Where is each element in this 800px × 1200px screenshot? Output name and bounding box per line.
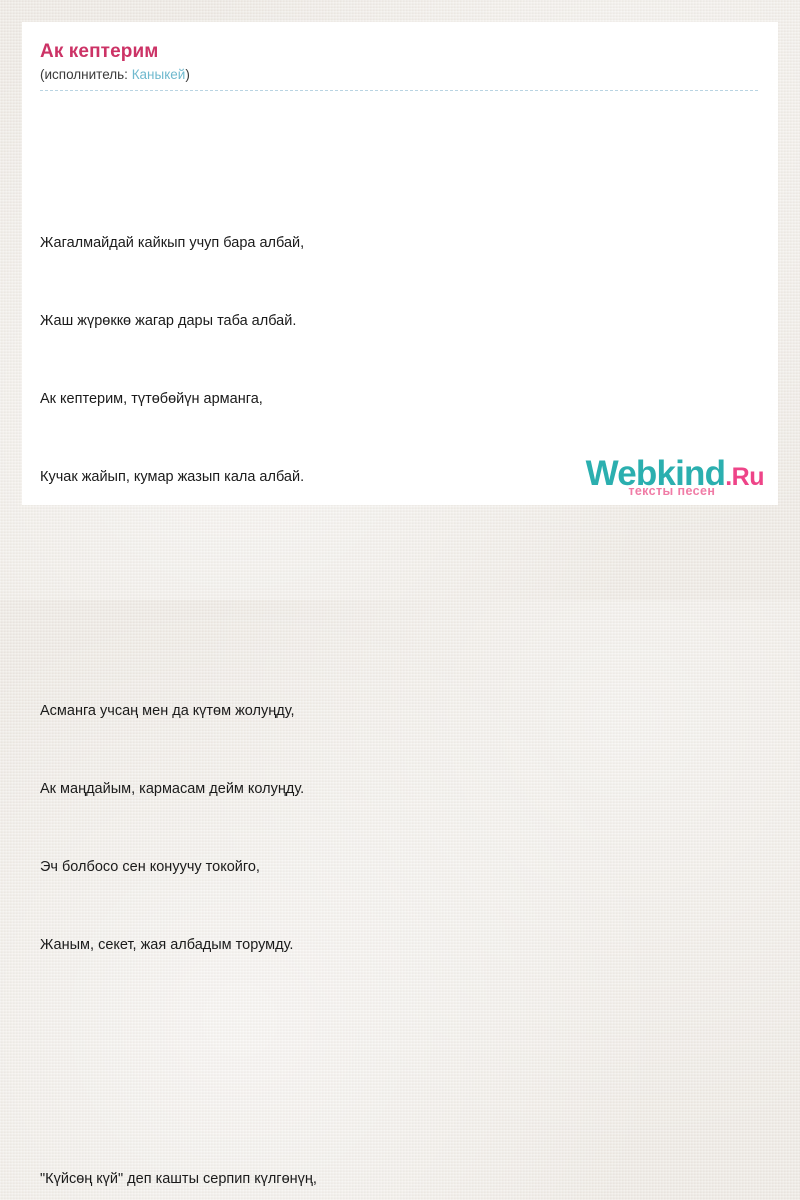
site-logo[interactable]: Webkind.Ru тексты песен bbox=[586, 456, 764, 498]
lyrics-body: Жагалмайдай кайкып учуп бара албай, Жаш … bbox=[40, 100, 760, 1200]
page-root: Ак кептерим (исполнитель: Каныкей) Жагал… bbox=[0, 0, 800, 600]
lyrics-line: Жаш жүрөккө жагар дары таба албай. bbox=[40, 308, 760, 334]
song-header: Ак кептерим (исполнитель: Каныкей) bbox=[40, 40, 758, 83]
lyrics-line: "Күйсөң күй" деп кашты серпип күлгөнүң, bbox=[40, 1166, 760, 1192]
lyrics-stanza: "Күйсөң күй" деп кашты серпип күлгөнүң, … bbox=[40, 1114, 760, 1200]
lyrics-line: Жаным, секет, жая албадым торумду. bbox=[40, 932, 760, 958]
performer-prefix: (исполнитель: bbox=[40, 67, 132, 82]
lyrics-line: Эч болбосо сен конуучу токойго, bbox=[40, 854, 760, 880]
page-title: Ак кептерим bbox=[40, 40, 758, 63]
lyrics-line: Асманга учсаң мен да күтөм жолуңду, bbox=[40, 698, 760, 724]
performer-line: (исполнитель: Каныкей) bbox=[40, 66, 758, 83]
header-divider bbox=[40, 90, 758, 91]
lyrics-line: Жагалмайдай кайкып учуп бара албай, bbox=[40, 230, 760, 256]
lyrics-stanza: Асманга учсаң мен да күтөм жолуңду, Ак м… bbox=[40, 646, 760, 1010]
performer-suffix: ) bbox=[185, 67, 190, 82]
site-logo-tld: .Ru bbox=[725, 463, 764, 491]
song-content-card: Ак кептерим (исполнитель: Каныкей) Жагал… bbox=[22, 22, 778, 505]
lyrics-line: Ак кептерим, түтөбөйүн арманга, bbox=[40, 386, 760, 412]
lyrics-line: Ак маңдайым, кармасам дейм колуңду. bbox=[40, 776, 760, 802]
performer-link[interactable]: Каныкей bbox=[132, 67, 186, 82]
